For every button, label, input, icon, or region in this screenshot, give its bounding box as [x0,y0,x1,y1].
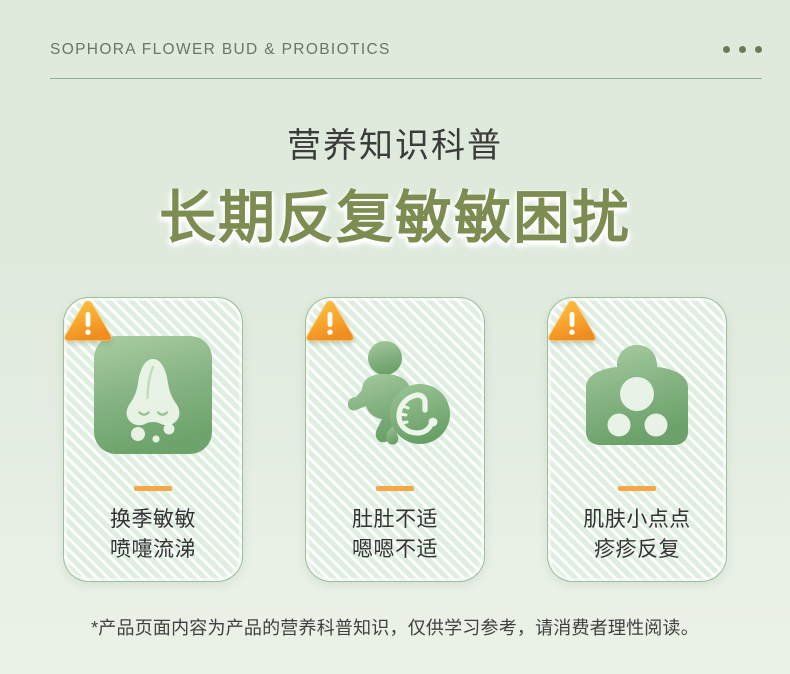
header-divider [50,78,762,79]
card-divider [618,486,656,491]
dot-icon [723,46,730,53]
symptom-card-skin[interactable]: 肌肤小点点 疹疹反复 [547,297,727,582]
caption-line-1: 换季敏敏 [64,505,242,535]
card-caption: 肚肚不适 嗯嗯不适 [306,505,484,565]
warning-triangle-icon [304,297,356,344]
dot-icon [739,46,746,53]
caption-line-2: 嗯嗯不适 [306,535,484,565]
brand-title: SOPHORA FLOWER BUD & PROBIOTICS [50,41,391,59]
caption-line-2: 疹疹反复 [548,535,726,565]
skin-spots-icon [578,336,696,454]
brand-header: SOPHORA FLOWER BUD & PROBIOTICS [50,41,762,81]
card-divider [134,486,172,491]
caption-line-1: 肌肤小点点 [548,505,726,535]
page-title: 长期反复敏敏困扰 [0,182,790,254]
caption-line-2: 喷嚏流涕 [64,535,242,565]
runny-nose-icon [94,336,212,454]
symptom-card-nose[interactable]: 换季敏敏 喷嚏流涕 [63,297,243,582]
caption-line-1: 肚肚不适 [306,505,484,535]
decor-dots [723,46,762,53]
dot-icon [755,46,762,53]
baby-tummy-icon [336,336,454,454]
card-caption: 肌肤小点点 疹疹反复 [548,505,726,565]
promo-page: SOPHORA FLOWER BUD & PROBIOTICS 营养知识科普 长… [0,0,790,674]
symptom-card-tummy[interactable]: 肚肚不适 嗯嗯不适 [305,297,485,582]
warning-triangle-icon [546,297,598,344]
disclaimer-note: *产品页面内容为产品的营养科普知识，仅供学习参考，请消费者理性阅读。 [0,615,790,641]
symptom-card-list: 换季敏敏 喷嚏流涕 [63,297,727,582]
card-caption: 换季敏敏 喷嚏流涕 [64,505,242,565]
card-divider [376,486,414,491]
page-subtitle: 营养知识科普 [0,124,790,168]
warning-triangle-icon [62,297,114,344]
